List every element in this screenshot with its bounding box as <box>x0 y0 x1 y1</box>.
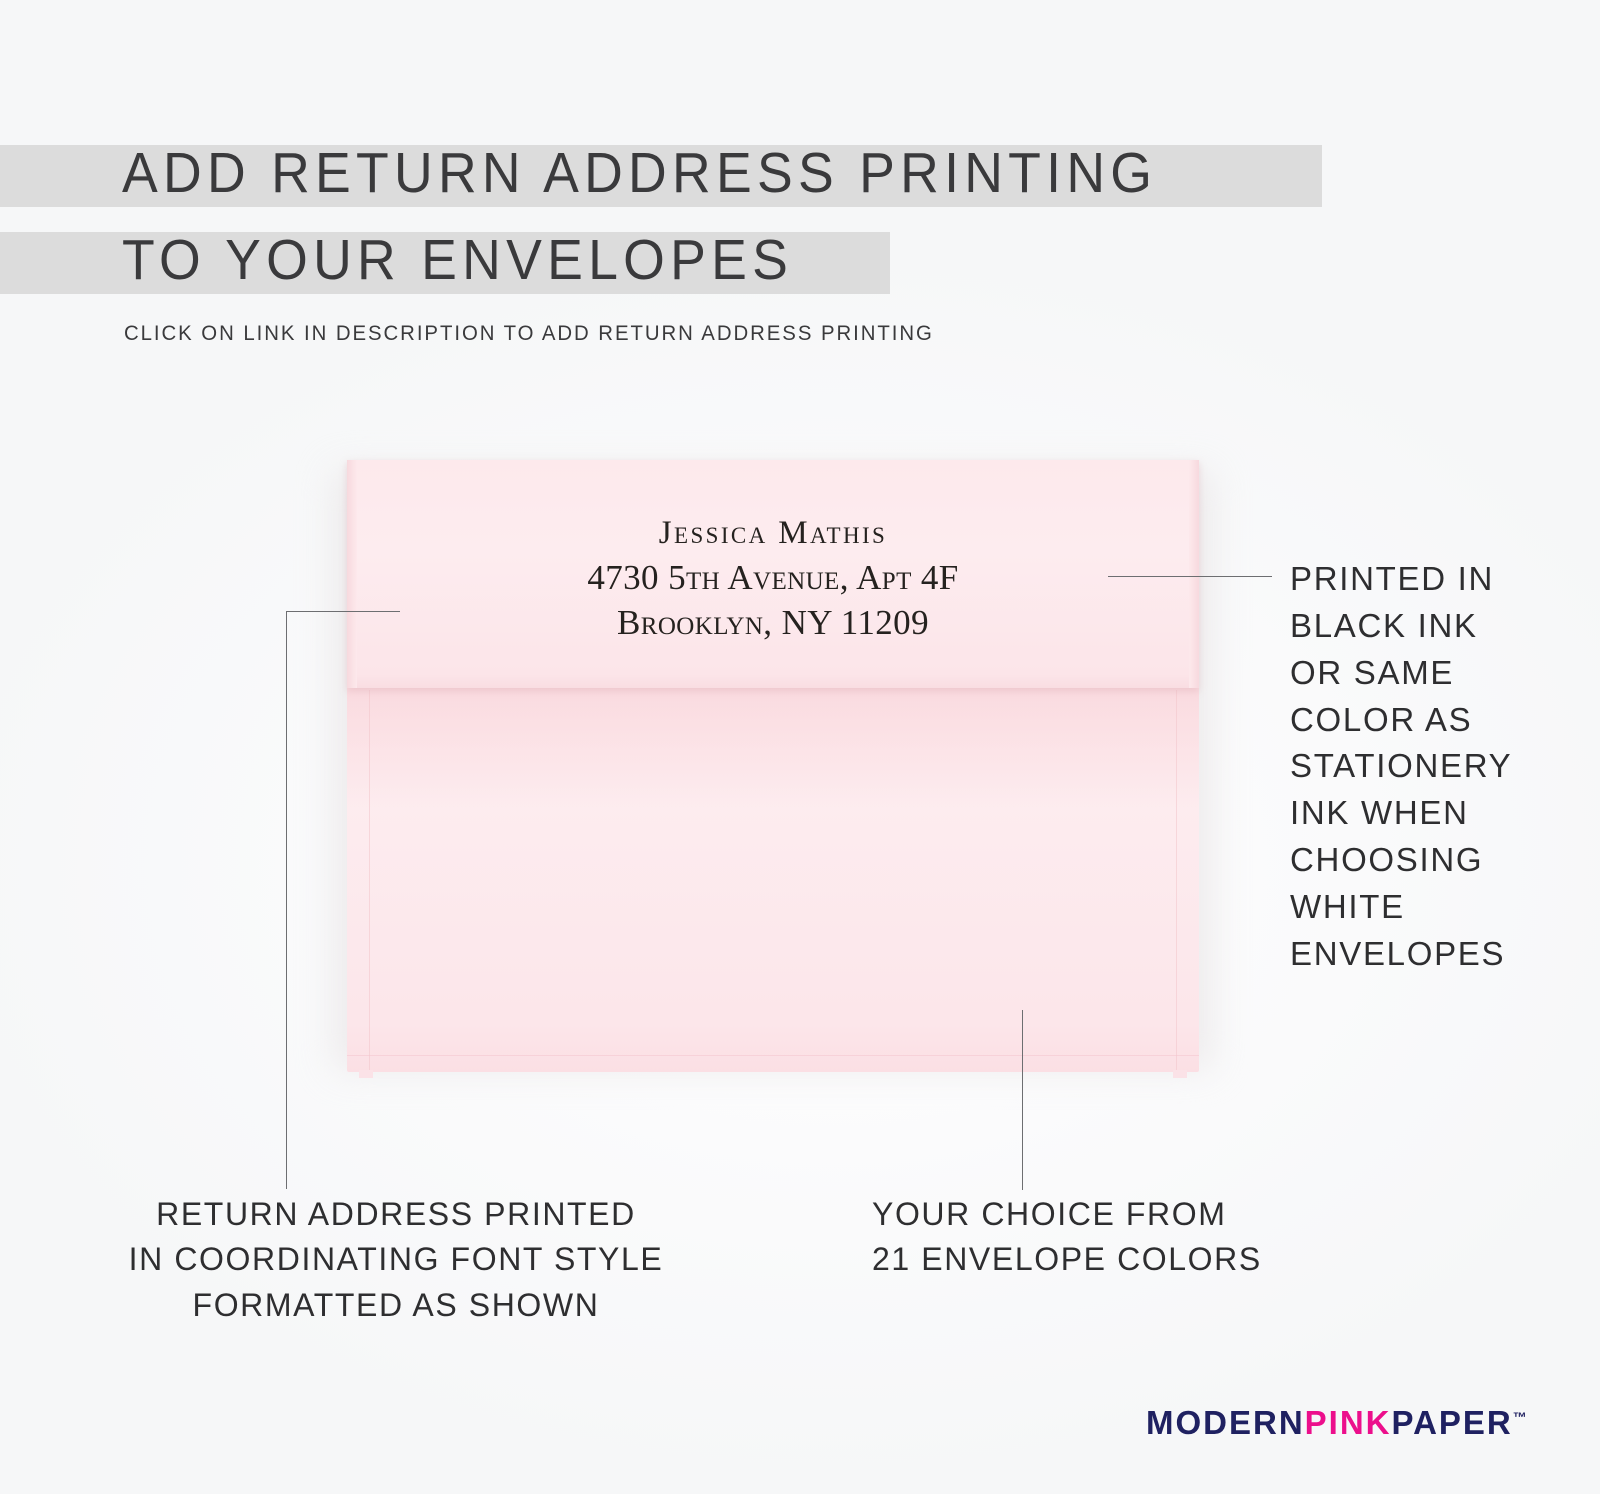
logo-trademark-icon: ™ <box>1513 1409 1527 1425</box>
callout-left-line-1: RETURN ADDRESS PRINTED <box>96 1192 696 1237</box>
leader-line-right-horizontal <box>1108 576 1272 577</box>
callout-right-line-9: ENVELOPES <box>1290 931 1590 978</box>
callout-right-line-2: BLACK INK <box>1290 603 1590 650</box>
callout-right-line-7: CHOOSING <box>1290 837 1590 884</box>
logo-pink: PINK <box>1305 1404 1392 1441</box>
page-subtitle: CLICK ON LINK IN DESCRIPTION TO ADD RETU… <box>124 322 934 346</box>
leader-line-left-vertical <box>286 611 287 1189</box>
leader-line-left-horizontal <box>286 611 400 612</box>
callout-right-line-6: INK WHEN <box>1290 790 1590 837</box>
callout-right-line-1: PRINTED IN <box>1290 556 1590 603</box>
callout-right-line-4: COLOR AS <box>1290 697 1590 744</box>
callout-center-line-1: YOUR CHOICE FROM <box>872 1192 1292 1237</box>
envelope-flap-notch-left <box>359 1070 373 1078</box>
envelope-seam-right <box>1176 690 1177 1072</box>
callout-printed-ink: PRINTED IN BLACK INK OR SAME COLOR AS ST… <box>1290 556 1590 978</box>
callout-envelope-colors: YOUR CHOICE FROM 21 ENVELOPE COLORS <box>872 1192 1292 1283</box>
page-title-line-2: TO YOUR ENVELOPES <box>122 227 793 293</box>
return-address-street: 4730 5th Avenue, Apt 4F <box>347 555 1199 601</box>
page-title-line-1: ADD RETURN ADDRESS PRINTING <box>122 140 1157 206</box>
return-address-city-state-zip: Brooklyn, NY 11209 <box>347 600 1199 646</box>
leader-line-bottom-vertical <box>1022 1010 1023 1190</box>
envelope-mockup: Jessica Mathis 4730 5th Avenue, Apt 4F B… <box>347 460 1199 1072</box>
callout-left-line-3: FORMATTED AS SHOWN <box>96 1283 696 1328</box>
callout-left-line-2: IN COORDINATING FONT STYLE <box>96 1237 696 1282</box>
envelope-flap-notch-right <box>1173 1070 1187 1078</box>
return-address-name: Jessica Mathis <box>347 512 1199 555</box>
logo-paper: PAPER <box>1392 1404 1513 1441</box>
callout-right-line-8: WHITE <box>1290 884 1590 931</box>
callout-right-line-5: STATIONERY <box>1290 743 1590 790</box>
logo-modern: MODERN <box>1146 1404 1305 1441</box>
callout-right-line-3: OR SAME <box>1290 650 1590 697</box>
return-address-block: Jessica Mathis 4730 5th Avenue, Apt 4F B… <box>347 512 1199 646</box>
brand-logo: MODERNPINKPAPER™ <box>1146 1404 1527 1442</box>
callout-font-style: RETURN ADDRESS PRINTED IN COORDINATING F… <box>96 1192 696 1328</box>
envelope-body-sheen <box>347 688 1199 808</box>
envelope-seam-bottom <box>347 1055 1199 1056</box>
envelope-seam-left <box>369 690 370 1072</box>
envelope-flap: Jessica Mathis 4730 5th Avenue, Apt 4F B… <box>347 460 1199 688</box>
callout-center-line-2: 21 ENVELOPE COLORS <box>872 1237 1292 1282</box>
